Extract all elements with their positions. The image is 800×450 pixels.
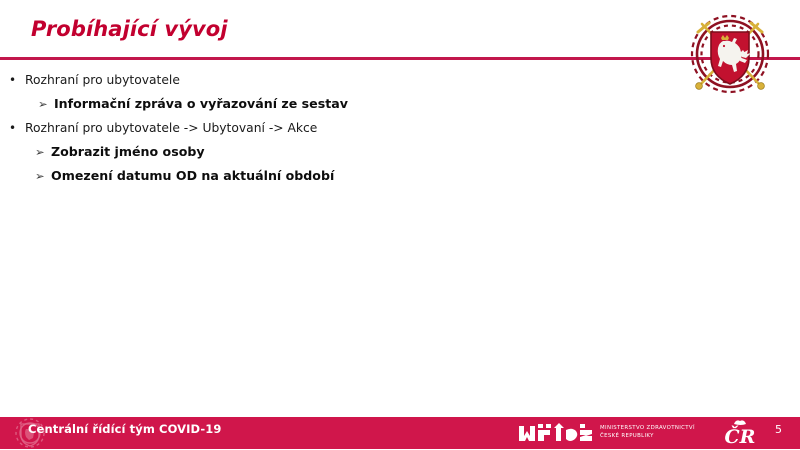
arrow-bullet-icon: ➢ bbox=[35, 164, 45, 188]
bullet-list: • Rozhraní pro ubytovatele ➢ Informační … bbox=[0, 68, 660, 188]
footer-bar: Centrální řídící tým COVID-19 MINISTERST… bbox=[0, 417, 800, 449]
list-item-label: Rozhraní pro ubytovatele bbox=[25, 73, 180, 87]
bullet-marker-icon: • bbox=[9, 68, 16, 92]
slide-canvas: Probíhající vývoj bbox=[0, 0, 800, 449]
cr-logo-icon: ČR bbox=[714, 419, 766, 447]
list-item: • Rozhraní pro ubytovatele -> Ubytovaní … bbox=[0, 116, 660, 140]
list-item-label: Omezení datumu OD na aktuální období bbox=[51, 168, 334, 183]
list-item: • Rozhraní pro ubytovatele bbox=[0, 68, 660, 92]
list-item-label: Rozhraní pro ubytovatele -> Ubytovaní ->… bbox=[25, 121, 317, 135]
footer-title: Centrální řídící tým COVID-19 bbox=[28, 422, 221, 436]
ministry-name-line1: MINISTERSTVO ZDRAVOTNICTVÍ bbox=[600, 424, 695, 432]
page-title: Probíhající vývoj bbox=[31, 17, 228, 41]
list-item-label: Zobrazit jméno osoby bbox=[51, 144, 205, 159]
ministry-name: MINISTERSTVO ZDRAVOTNICTVÍ ČESKÉ REPUBLI… bbox=[600, 424, 695, 440]
list-item: ➢ Informační zpráva o vyřazování ze sest… bbox=[0, 92, 660, 116]
list-item: ➢ Omezení datumu OD na aktuální období bbox=[0, 164, 660, 188]
svg-text:ČR: ČR bbox=[725, 425, 756, 447]
bullet-marker-icon: • bbox=[9, 116, 16, 140]
ministry-name-line2: ČESKÉ REPUBLIKY bbox=[600, 432, 695, 440]
ministry-logo-icon bbox=[518, 422, 592, 444]
arrow-bullet-icon: ➢ bbox=[35, 140, 45, 164]
arrow-bullet-icon: ➢ bbox=[38, 92, 48, 116]
list-item: ➢ Zobrazit jméno osoby bbox=[0, 140, 660, 164]
list-item-label: Informační zpráva o vyřazování ze sestav bbox=[54, 96, 348, 111]
page-number: 5 bbox=[775, 423, 782, 436]
title-divider-rule bbox=[0, 57, 800, 60]
czech-armed-forces-emblem-icon bbox=[684, 10, 776, 98]
